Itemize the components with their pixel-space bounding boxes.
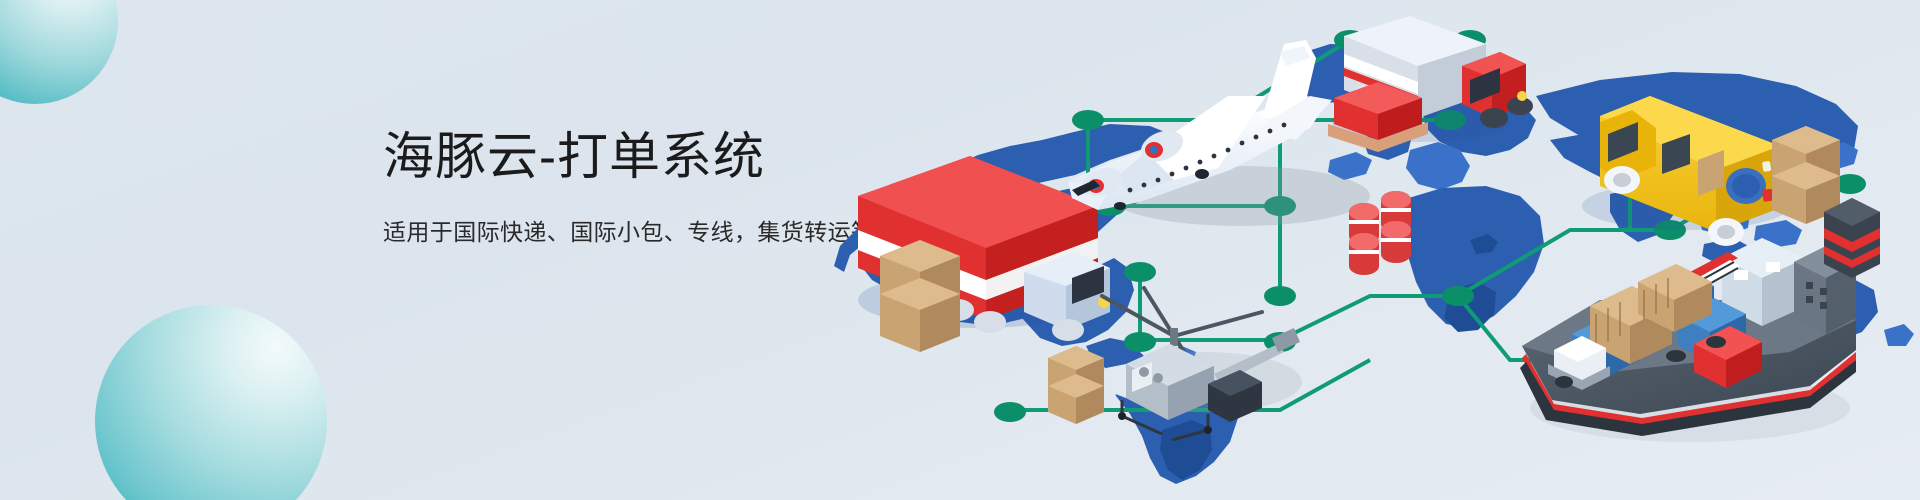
cardboard-boxes [880, 240, 960, 352]
page-title: 海豚云-打单系统 [383, 128, 1143, 185]
decorative-circle-bottom-left [95, 305, 327, 500]
yellow-delivery-van [1582, 96, 1840, 246]
cargo-ship [1520, 198, 1880, 442]
cardboard-boxes [1048, 346, 1104, 424]
red-barrels [1349, 191, 1411, 275]
world-map-landmass [834, 44, 1914, 484]
shipping-containers [1572, 264, 1762, 388]
red-white-box-truck [1328, 16, 1533, 152]
page-subtitle: 适用于国际快递、国际小包、专线，集货转运等跨境物流包裹处理 [383, 215, 1143, 250]
cardboard-boxes [1772, 126, 1840, 224]
hero-banner: 海豚云-打单系统 适用于国际快递、国际小包、专线，集货转运等跨境物流包裹处理 [0, 0, 1920, 500]
logistics-illustration [810, 0, 1920, 500]
banner-text-block: 海豚云-打单系统 适用于国际快递、国际小包、专线，集货转运等跨境物流包裹处理 [383, 128, 1143, 250]
decorative-circle-top-left [0, 0, 118, 104]
helicopter [1048, 288, 1302, 440]
